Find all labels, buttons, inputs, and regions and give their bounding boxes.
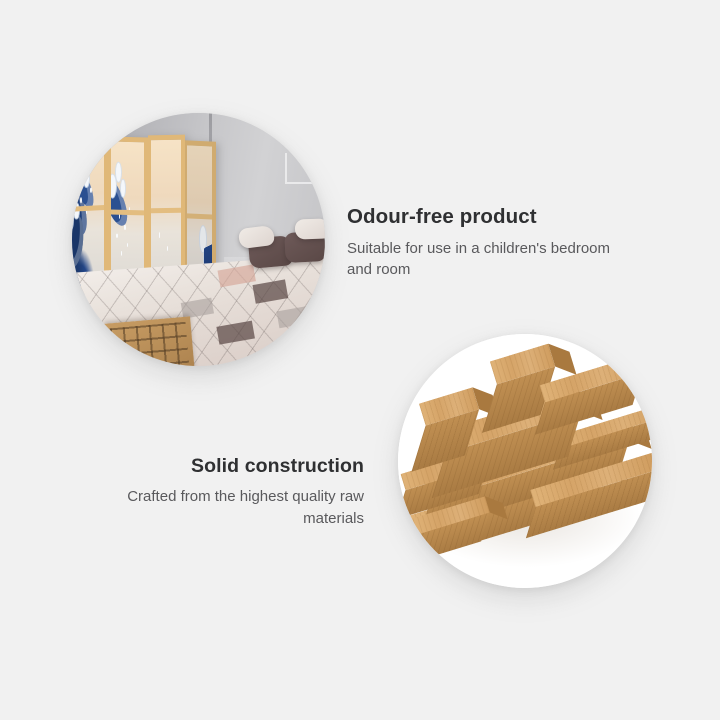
wooden-beam xyxy=(419,387,479,425)
feature-title: Solid construction xyxy=(84,455,364,478)
wooden-crate xyxy=(105,317,196,366)
wood-scene xyxy=(398,334,652,588)
feature-description: Crafted from the highest quality raw mat… xyxy=(84,486,364,529)
wall-frame-outline xyxy=(285,153,325,183)
infographic-canvas: Odour-free product Suitable for use in a… xyxy=(0,0,720,720)
feature-text-odour-free: Odour-free product Suitable for use in a… xyxy=(347,205,627,280)
stacked-wooden-beams-photo xyxy=(398,334,652,588)
feature-text-solid-construction: Solid construction Crafted from the high… xyxy=(84,455,364,529)
wooden-beam xyxy=(490,343,555,384)
pillow xyxy=(294,219,325,240)
feature-title: Odour-free product xyxy=(347,205,627,230)
bedroom-scene xyxy=(72,113,325,366)
feature-description: Suitable for use in a children's bedroom… xyxy=(347,238,627,281)
bedroom-with-folding-screen-photo xyxy=(72,113,325,366)
screen-panel xyxy=(72,132,108,291)
great-wave-artwork xyxy=(72,137,104,287)
